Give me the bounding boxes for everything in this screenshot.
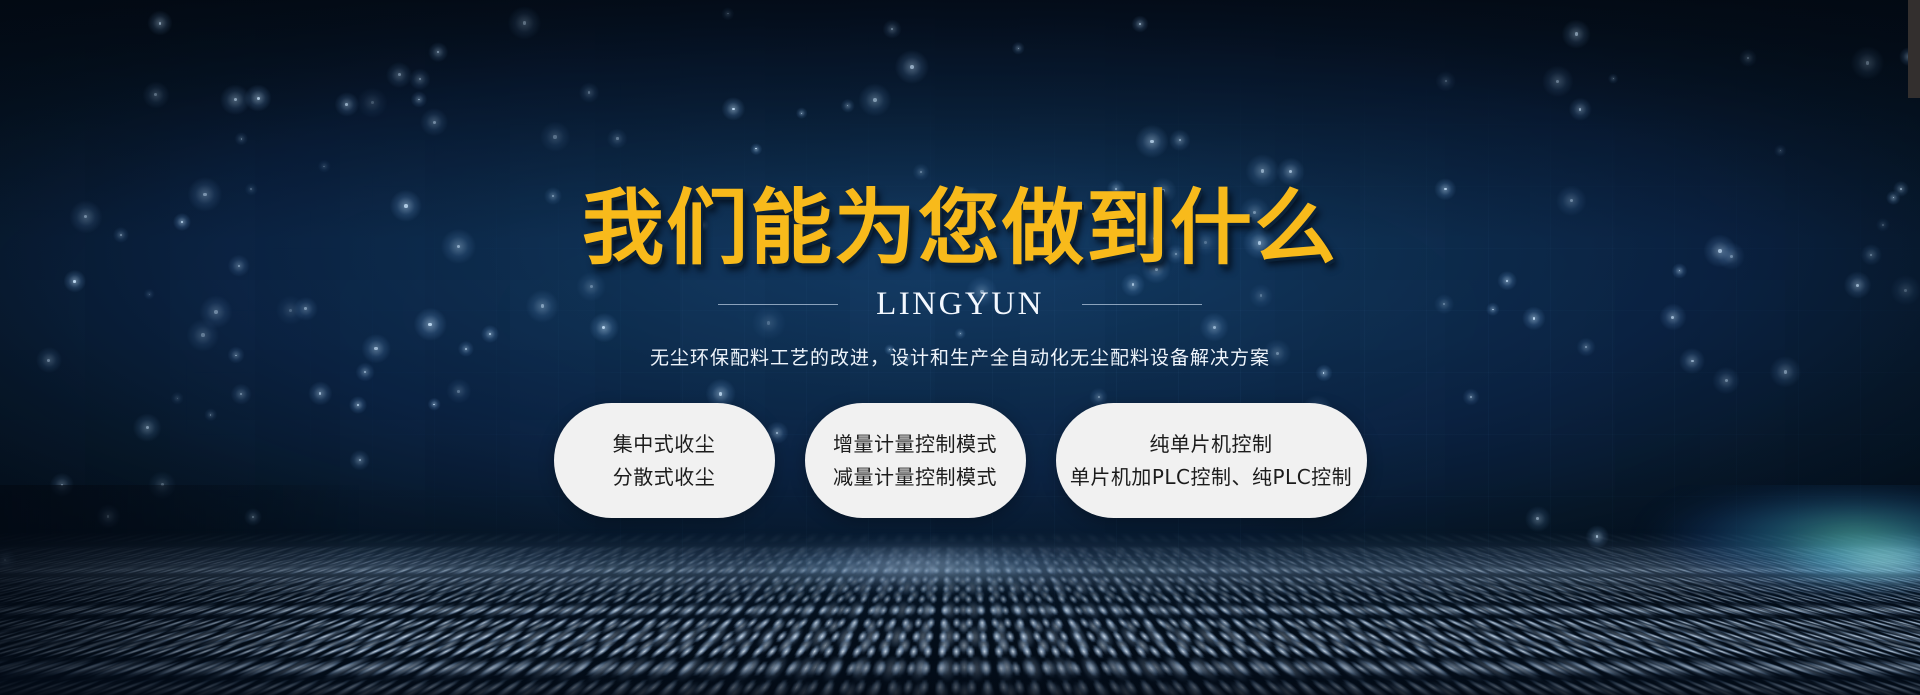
banner-content: 我们能为您做到什么 LINGYUN 无尘环保配料工艺的改进，设计和生产全自动化无… xyxy=(0,0,1920,695)
page-subtitle: 无尘环保配料工艺的改进，设计和生产全自动化无尘配料设备解决方案 xyxy=(650,343,1270,370)
rule-right xyxy=(1082,304,1202,305)
feature-card-dust-collection[interactable]: 集中式收尘 分散式收尘 xyxy=(554,403,775,518)
rule-left xyxy=(718,304,838,305)
right-edge-strip xyxy=(1908,0,1920,98)
feature-card-line-1: 纯单片机控制 xyxy=(1150,434,1273,454)
feature-card-line-1: 集中式收尘 xyxy=(613,434,716,454)
page-title: 我们能为您做到什么 xyxy=(582,188,1338,270)
feature-card-control-system[interactable]: 纯单片机控制 单片机加PLC控制、纯PLC控制 xyxy=(1056,403,1367,518)
brand-latin-name: LINGYUN xyxy=(876,288,1044,321)
feature-card-list: 集中式收尘 分散式收尘 增量计量控制模式 减量计量控制模式 纯单片机控制 单片机… xyxy=(554,403,1367,518)
feature-card-line-2: 减量计量控制模式 xyxy=(833,467,997,487)
feature-card-line-1: 增量计量控制模式 xyxy=(833,434,997,454)
feature-card-line-2: 分散式收尘 xyxy=(613,467,716,487)
banner-stage: 我们能为您做到什么 LINGYUN 无尘环保配料工艺的改进，设计和生产全自动化无… xyxy=(0,0,1920,695)
feature-card-line-2: 单片机加PLC控制、纯PLC控制 xyxy=(1070,467,1352,487)
brand-row: LINGYUN xyxy=(718,288,1202,321)
feature-card-metering-mode[interactable]: 增量计量控制模式 减量计量控制模式 xyxy=(805,403,1026,518)
